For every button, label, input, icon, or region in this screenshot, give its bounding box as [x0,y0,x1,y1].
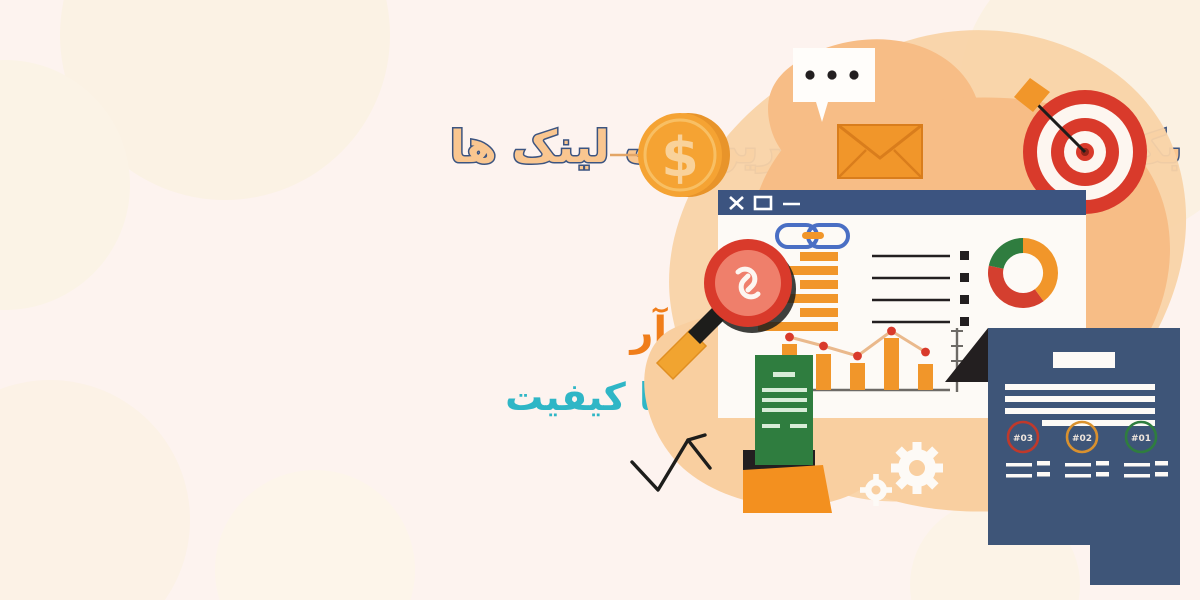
dollar-coin-icon: $ [638,113,730,197]
browser-titlebar [718,190,1086,215]
seo-illustration: $ [610,0,1200,600]
background-blob [0,380,190,600]
mail-envelope-icon [838,125,922,178]
card-title-bar [1053,352,1115,368]
background-blob [215,470,415,600]
svg-text:#03: #03 [1013,434,1033,444]
svg-text:$: $ [661,126,699,189]
banner-stage: بک لینک دائمی بک لینک دائمی بهترین بک لی… [0,0,1200,600]
svg-text:#02: #02 [1072,434,1092,444]
svg-text:#01: #01 [1131,434,1151,444]
